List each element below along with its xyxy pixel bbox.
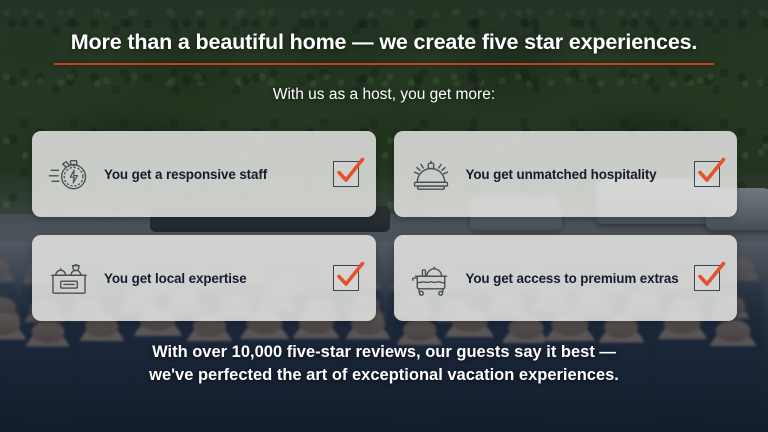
service-bell-icon — [408, 151, 454, 197]
review-count-stat: 10,000 — [232, 343, 282, 361]
checkbox-unmatched-hospitality[interactable] — [694, 161, 720, 187]
checkbox-premium-extras[interactable] — [694, 265, 720, 291]
benefit-card-local-expertise[interactable]: You get local expertise — [32, 235, 376, 321]
benefit-card-premium-extras[interactable]: You get access to premium extras — [394, 235, 738, 321]
footer-post: five-star reviews, our guests say it bes… — [282, 343, 616, 361]
footer-statement: With over 10,000 five-star reviews, our … — [0, 341, 768, 387]
benefits-grid: You get a responsive staff — [32, 131, 737, 321]
benefit-label: You get unmatched hospitality — [454, 167, 695, 182]
checkbox-responsive-staff[interactable] — [333, 161, 359, 187]
stopwatch-lightning-icon — [46, 151, 92, 197]
footer-pre: With over — [152, 343, 232, 361]
headline-block: More than a beautiful home — we create f… — [0, 30, 768, 65]
concierge-desk-icon — [46, 255, 92, 301]
benefit-card-responsive-staff[interactable]: You get a responsive staff — [32, 131, 376, 217]
footer-line-1: With over 10,000 five-star reviews, our … — [152, 343, 616, 361]
slide-canvas: More than a beautiful home — we create f… — [0, 0, 768, 432]
benefit-label: You get a responsive staff — [92, 167, 333, 182]
checkbox-local-expertise[interactable] — [333, 265, 359, 291]
subheading: With us as a host, you get more: — [0, 86, 768, 104]
page-title: More than a beautiful home — we create f… — [71, 30, 698, 60]
benefit-label: You get access to premium extras — [454, 271, 695, 286]
title-underline-rule — [54, 63, 714, 65]
room-service-cart-icon — [408, 255, 454, 301]
footer-line-2: we've perfected the art of exceptional v… — [0, 364, 768, 387]
benefit-label: You get local expertise — [92, 271, 333, 286]
benefit-card-unmatched-hospitality[interactable]: You get unmatched hospitality — [394, 131, 738, 217]
